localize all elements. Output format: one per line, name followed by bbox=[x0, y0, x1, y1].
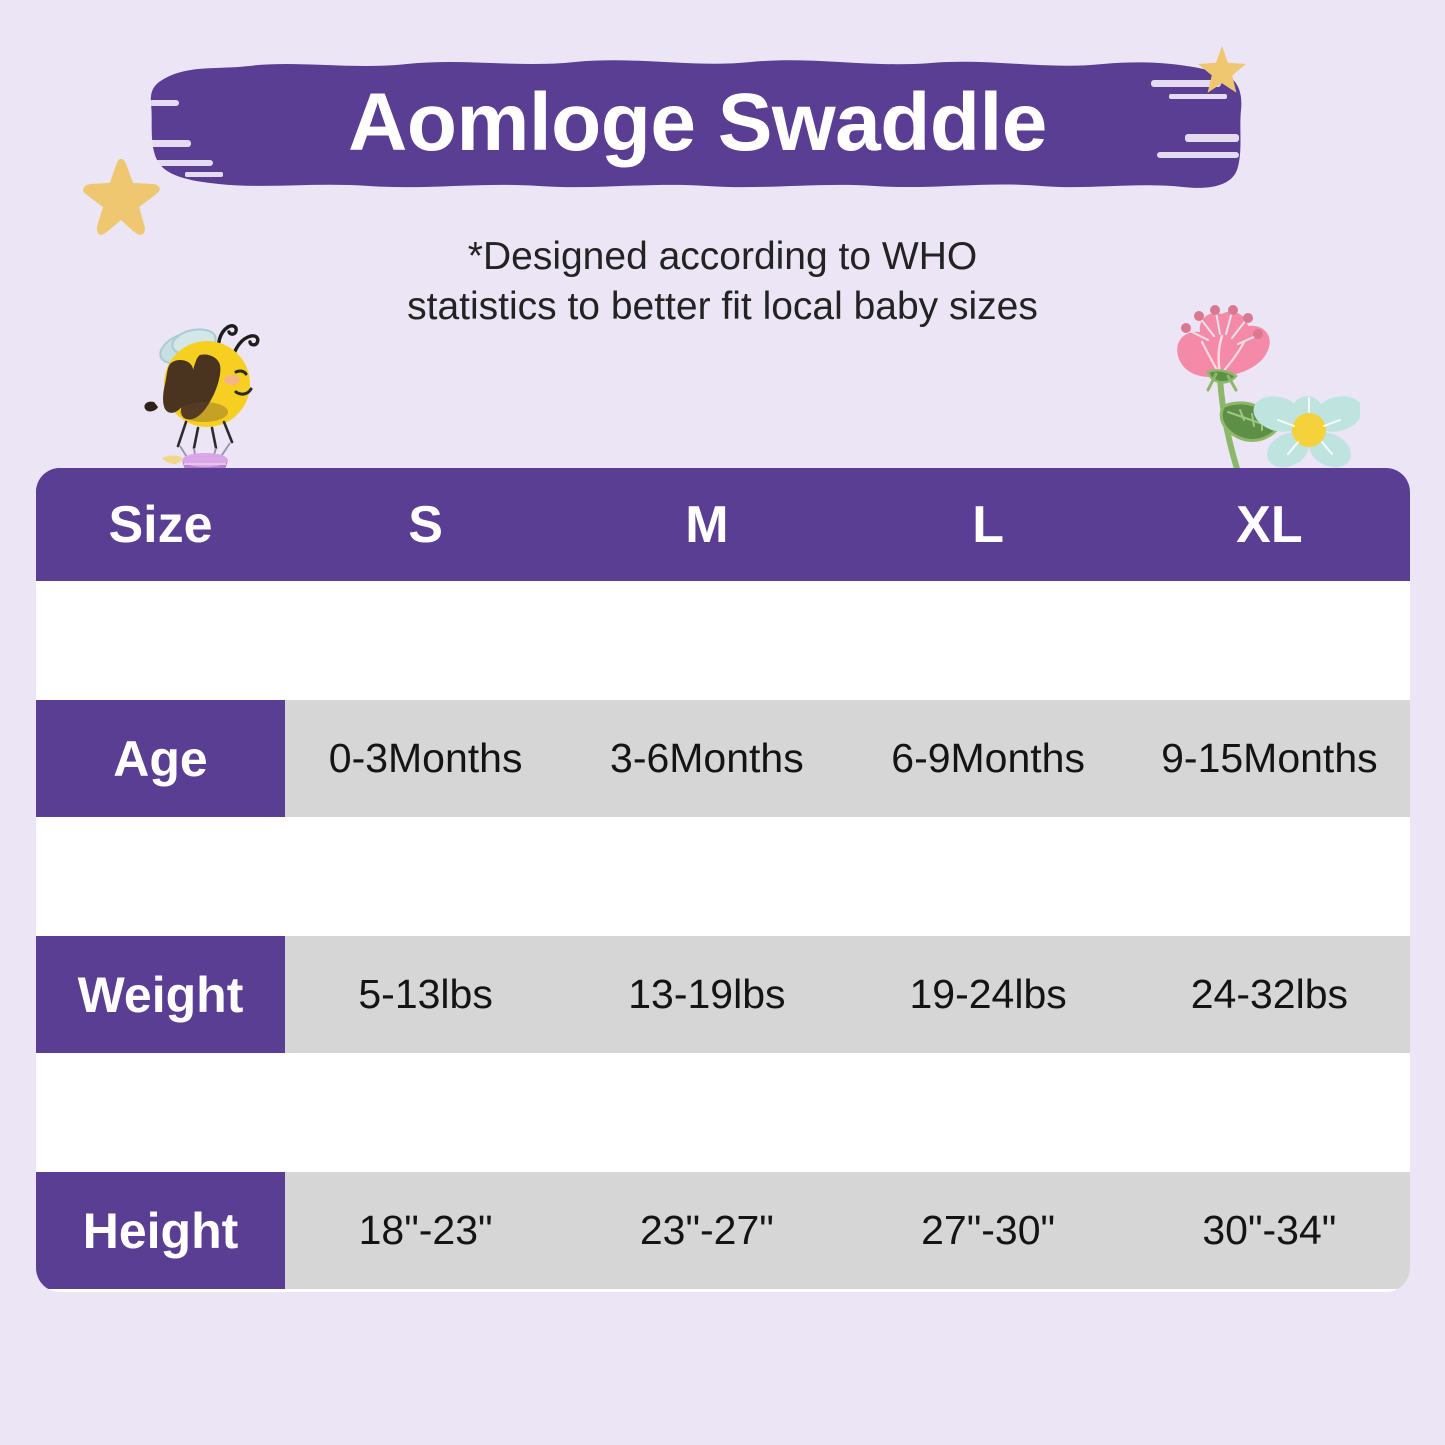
subtitle: *Designed according to WHO statistics to… bbox=[0, 232, 1445, 332]
cell-weight-l: 19-24lbs bbox=[848, 971, 1129, 1018]
table-spacer-row bbox=[36, 1053, 1410, 1172]
cell-height-l: 27"-30" bbox=[848, 1207, 1129, 1254]
table-spacer-row bbox=[36, 581, 1410, 700]
table-spacer-row bbox=[36, 817, 1410, 936]
row-label-age: Age bbox=[36, 700, 285, 817]
table-header-size-label: Size bbox=[36, 468, 285, 581]
table-row-age: Age 0-3Months 3-6Months 6-9Months 9-15Mo… bbox=[36, 700, 1410, 817]
row-label-weight: Weight bbox=[36, 936, 285, 1053]
row-values-age: 0-3Months 3-6Months 6-9Months 9-15Months bbox=[285, 700, 1410, 817]
cell-height-xl: 30"-34" bbox=[1129, 1207, 1410, 1254]
cell-age-s: 0-3Months bbox=[285, 735, 566, 782]
page-title: Aomloge Swaddle bbox=[145, 48, 1250, 203]
table-header-row: Size S M L XL bbox=[36, 468, 1410, 581]
cell-age-xl: 9-15Months bbox=[1129, 735, 1410, 782]
subtitle-line-1: *Designed according to WHO bbox=[0, 232, 1445, 282]
table-header-size-s: S bbox=[285, 495, 566, 555]
row-values-height: 18"-23" 23"-27" 27"-30" 30"-34" bbox=[285, 1172, 1410, 1289]
row-label-height: Height bbox=[36, 1172, 285, 1289]
table-row-height: Height 18"-23" 23"-27" 27"-30" 30"-34" bbox=[36, 1172, 1410, 1289]
table-row-weight: Weight 5-13lbs 13-19lbs 19-24lbs 24-32lb… bbox=[36, 936, 1410, 1053]
cell-weight-xl: 24-32lbs bbox=[1129, 971, 1410, 1018]
table-header-size-xl: XL bbox=[1129, 495, 1410, 555]
table-header-size-m: M bbox=[566, 495, 847, 555]
bee-icon bbox=[132, 312, 284, 484]
row-values-weight: 5-13lbs 13-19lbs 19-24lbs 24-32lbs bbox=[285, 936, 1410, 1053]
cell-height-s: 18"-23" bbox=[285, 1207, 566, 1254]
table-header-sizes: S M L XL bbox=[285, 468, 1410, 581]
title-banner: Aomloge Swaddle bbox=[145, 48, 1250, 203]
table-header-size-l: L bbox=[848, 495, 1129, 555]
subtitle-line-2: statistics to better fit local baby size… bbox=[0, 282, 1445, 332]
size-chart-table: Size S M L XL Age 0-3Months 3-6Months 6-… bbox=[36, 468, 1410, 1292]
cell-height-m: 23"-27" bbox=[566, 1207, 847, 1254]
cell-weight-s: 5-13lbs bbox=[285, 971, 566, 1018]
cell-age-l: 6-9Months bbox=[848, 735, 1129, 782]
cell-weight-m: 13-19lbs bbox=[566, 971, 847, 1018]
cell-age-m: 3-6Months bbox=[566, 735, 847, 782]
